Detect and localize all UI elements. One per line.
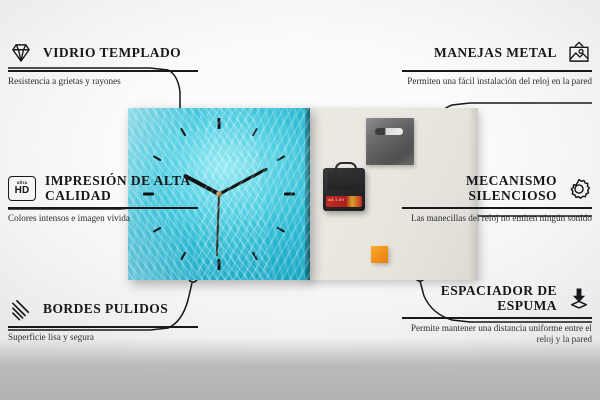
callout-subtitle: Las manecillas del reloj no emiten ningú…: [402, 213, 592, 224]
gear-icon: [566, 176, 592, 202]
diagonal-lines-icon: [8, 296, 34, 322]
callout-divider: [8, 207, 198, 209]
hd-badge-hd-text: HD: [15, 186, 30, 196]
callout-subtitle: Resistencia a grietas y rayones: [8, 76, 198, 87]
glass-edge-highlight: [305, 108, 310, 280]
battery-label: AA 1.5V: [328, 197, 345, 202]
callout-divider: [402, 317, 592, 319]
callout-divider: [8, 326, 198, 328]
ultra-hd-badge-icon: ultra HD: [8, 176, 36, 201]
clock-movement-icon: AA 1.5V: [323, 168, 365, 211]
infographic-canvas: AA 1.5V: [0, 0, 600, 400]
callout-subtitle: Superficie lisa y segura: [8, 332, 198, 343]
diamond-icon: [8, 40, 34, 66]
callout-subtitle: Permiten una fácil instalación del reloj…: [402, 76, 592, 87]
callout-title: ESPACIADOR DE ESPUMA: [402, 284, 557, 313]
framed-picture-hanger-icon: [566, 40, 592, 66]
clock-center-pin: [216, 191, 222, 197]
callout-divider: [402, 70, 592, 72]
callout-title: MECANISMO SILENCIOSO: [402, 174, 557, 203]
callout-title: MANEJAS METAL: [434, 46, 557, 61]
callout-silent-mechanism: MECANISMO SILENCIOSO Las manecillas del …: [402, 174, 592, 224]
clock-second-hand: [216, 194, 220, 256]
callout-divider: [8, 70, 198, 72]
clock-minute-hand: [218, 167, 267, 195]
callout-subtitle: Colores intensos e imagen vívida: [8, 213, 198, 224]
callout-subtitle: Permite mantener una distancia uniforme …: [402, 323, 592, 346]
metal-hanger-plate-icon: [366, 118, 414, 165]
callout-divider: [402, 207, 592, 209]
callout-hd-print: ultra HD IMPRESIÓN DE ALTA CALIDAD Color…: [8, 174, 198, 224]
callout-polished-edges: BORDES PULIDOS Superficie lisa y segura: [8, 296, 198, 343]
foam-spacer-icon: [371, 246, 388, 263]
callout-metal-handles: MANEJAS METAL Permiten una fácil instala…: [402, 40, 592, 87]
hanger-keyhole-slot: [375, 128, 403, 135]
callout-foam-spacer: ESPACIADOR DE ESPUMA Permite mantener un…: [402, 284, 592, 345]
callout-title: VIDRIO TEMPLADO: [43, 46, 181, 61]
callout-title: IMPRESIÓN DE ALTA CALIDAD: [45, 174, 198, 203]
battery-icon: AA 1.5V: [326, 196, 362, 207]
movement-housing-face: [328, 172, 360, 190]
callout-title: BORDES PULIDOS: [43, 302, 168, 317]
callout-tempered-glass: VIDRIO TEMPLADO Resistencia a grietas y …: [8, 40, 198, 87]
arrow-down-onto-stack-icon: [566, 286, 592, 312]
